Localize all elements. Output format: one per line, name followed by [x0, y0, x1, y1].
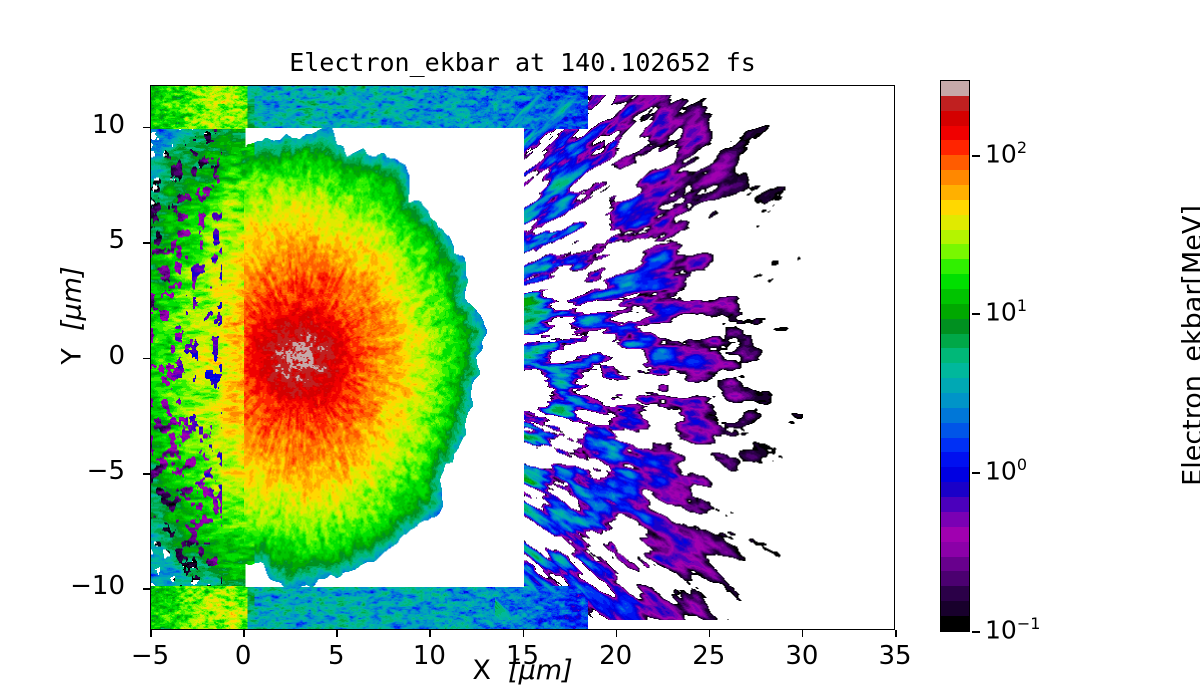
y-tick: [143, 588, 150, 590]
colorbar-band: [941, 289, 969, 304]
colorbar-label: Electron_ekbar[MeV]: [1178, 131, 1200, 561]
colorbar-band: [941, 527, 969, 542]
colorbar-band: [941, 393, 969, 408]
colorbar-tick: [972, 155, 980, 157]
colorbar-band: [941, 259, 969, 274]
plot-axes[interactable]: [150, 85, 895, 630]
colorbar-band: [941, 423, 969, 438]
colorbar-band: [941, 140, 969, 155]
colorbar-band: [941, 408, 969, 423]
colorbar-band: [941, 319, 969, 334]
colorbar-tick: [972, 472, 980, 474]
colorbar-band: [941, 348, 969, 363]
colorbar-band: [941, 512, 969, 527]
x-tick: [523, 630, 525, 637]
x-axis-label: X [μm]: [150, 655, 895, 686]
colorbar-band: [941, 111, 969, 126]
y-tick: [143, 358, 150, 360]
colorbar-band: [941, 452, 969, 467]
y-tick-label: 10: [25, 110, 125, 140]
colorbar-band: [941, 304, 969, 319]
x-axis-label-text: X: [472, 655, 491, 686]
x-tick: [895, 630, 897, 637]
colorbar-band: [941, 200, 969, 215]
colorbar-band: [941, 185, 969, 200]
x-tick: [336, 630, 338, 637]
colorbar-band: [941, 363, 969, 378]
colorbar-band: [941, 244, 969, 259]
colorbar-band: [941, 482, 969, 497]
colorbar-band: [941, 542, 969, 557]
x-tick: [429, 630, 431, 637]
colorbar-band: [941, 586, 969, 601]
colorbar-band: [941, 616, 969, 631]
colorbar-tick-label: 100: [985, 455, 1027, 485]
x-tick: [709, 630, 711, 637]
colorbar-band: [941, 497, 969, 512]
colorbar-band: [941, 96, 969, 111]
colorbar-band: [941, 155, 969, 170]
x-tick: [616, 630, 618, 637]
colorbar-band: [941, 126, 969, 141]
y-tick-label: −10: [25, 571, 125, 601]
y-tick-label: −5: [25, 456, 125, 486]
plot-title: Electron_ekbar at 140.102652 fs: [150, 48, 895, 77]
colorbar-band: [941, 81, 969, 96]
x-tick: [243, 630, 245, 637]
colorbar-tick: [972, 313, 980, 315]
y-axis-label: Y [μm]: [57, 186, 88, 446]
figure-canvas: Electron_ekbar at 140.102652 fs −5051015…: [0, 0, 1200, 700]
colorbar[interactable]: [940, 80, 970, 632]
y-axis-label-unit: [μm]: [57, 266, 88, 331]
y-axis-label-text: Y: [57, 348, 88, 365]
colorbar-tick-label: 102: [985, 138, 1027, 168]
heatmap-region: [151, 86, 894, 629]
colorbar-tick: [972, 631, 980, 633]
colorbar-tick-label: 10−1: [985, 614, 1040, 644]
colorbar-band: [941, 601, 969, 616]
y-tick: [143, 242, 150, 244]
colorbar-band: [941, 467, 969, 482]
y-tick: [143, 473, 150, 475]
colorbar-band: [941, 170, 969, 185]
colorbar-band: [941, 378, 969, 393]
colorbar-band: [941, 215, 969, 230]
x-tick: [150, 630, 152, 637]
x-tick: [802, 630, 804, 637]
colorbar-band: [941, 571, 969, 586]
y-tick: [143, 127, 150, 129]
colorbar-tick-label: 101: [985, 296, 1027, 326]
heatmap-canvas: [151, 86, 894, 629]
colorbar-band: [941, 334, 969, 349]
x-axis-label-unit: [μm]: [508, 655, 573, 686]
colorbar-band: [941, 230, 969, 245]
colorbar-band: [941, 274, 969, 289]
colorbar-band: [941, 557, 969, 572]
colorbar-band: [941, 438, 969, 453]
